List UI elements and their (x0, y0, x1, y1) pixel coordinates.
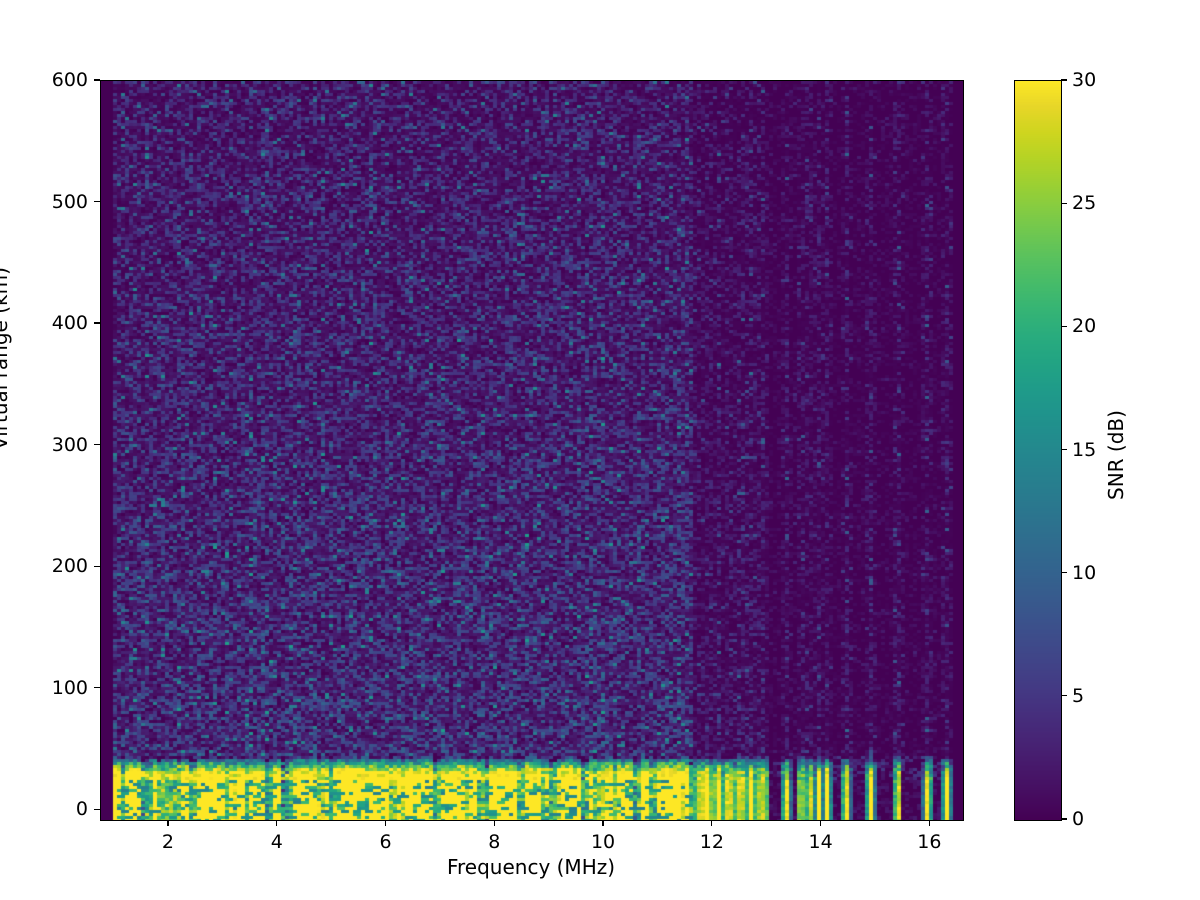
x-tick-label: 16 (899, 831, 959, 853)
y-tick-label: 500 (8, 191, 88, 213)
colorbar-tick-mark (1061, 695, 1067, 696)
x-tick-mark (276, 820, 277, 826)
x-tick-label: 14 (791, 831, 851, 853)
x-tick-mark (929, 820, 930, 826)
colorbar-tick-label: 20 (1072, 315, 1096, 337)
y-axis-label: Virtual range (km) (0, 267, 12, 450)
colorbar-label: SNR (dB) (1104, 410, 1128, 500)
y-tick-label: 0 (8, 798, 88, 820)
x-tick-label: 12 (682, 831, 742, 853)
y-tick-label: 200 (8, 555, 88, 577)
y-tick-label: 400 (8, 312, 88, 334)
x-tick-label: 2 (138, 831, 198, 853)
ionogram-heatmap[interactable] (101, 81, 963, 820)
colorbar-tick-label: 0 (1072, 808, 1084, 830)
x-tick-mark (167, 820, 168, 826)
colorbar-tick-mark (1061, 326, 1067, 327)
y-tick-mark (94, 79, 100, 80)
colorbar-tick-mark (1061, 818, 1067, 819)
y-tick-mark (94, 322, 100, 323)
y-tick-label: 600 (8, 69, 88, 91)
y-tick-label: 300 (8, 434, 88, 456)
x-tick-label: 4 (247, 831, 307, 853)
x-axis-label: Frequency (MHz) (100, 855, 962, 879)
colorbar-tick-mark (1061, 203, 1067, 204)
colorbar-tick-mark (1061, 79, 1067, 80)
colorbar-tick-mark (1061, 449, 1067, 450)
colorbar-tick-label: 30 (1072, 69, 1096, 91)
x-tick-label: 6 (356, 831, 416, 853)
colorbar-tick-label: 25 (1072, 192, 1096, 214)
y-tick-mark (94, 444, 100, 445)
ionogram-figure: IRF Kiruna Ionosonde KI167 2025-11-28 06… (0, 0, 1200, 900)
x-tick-mark (385, 820, 386, 826)
x-tick-label: 10 (573, 831, 633, 853)
y-tick-label: 100 (8, 677, 88, 699)
y-tick-mark (94, 201, 100, 202)
x-tick-mark (820, 820, 821, 826)
y-tick-mark (94, 687, 100, 688)
snr-colorbar[interactable] (1014, 80, 1062, 821)
x-tick-label: 8 (464, 831, 524, 853)
x-tick-mark (711, 820, 712, 826)
colorbar-tick-label: 15 (1072, 439, 1096, 461)
colorbar-tick-mark (1061, 572, 1067, 573)
y-tick-mark (94, 566, 100, 567)
x-tick-mark (494, 820, 495, 826)
y-tick-mark (94, 809, 100, 810)
colorbar-tick-label: 5 (1072, 685, 1084, 707)
colorbar-gradient (1015, 81, 1061, 820)
x-tick-mark (602, 820, 603, 826)
colorbar-tick-label: 10 (1072, 562, 1096, 584)
ionogram-axes[interactable] (100, 80, 964, 821)
